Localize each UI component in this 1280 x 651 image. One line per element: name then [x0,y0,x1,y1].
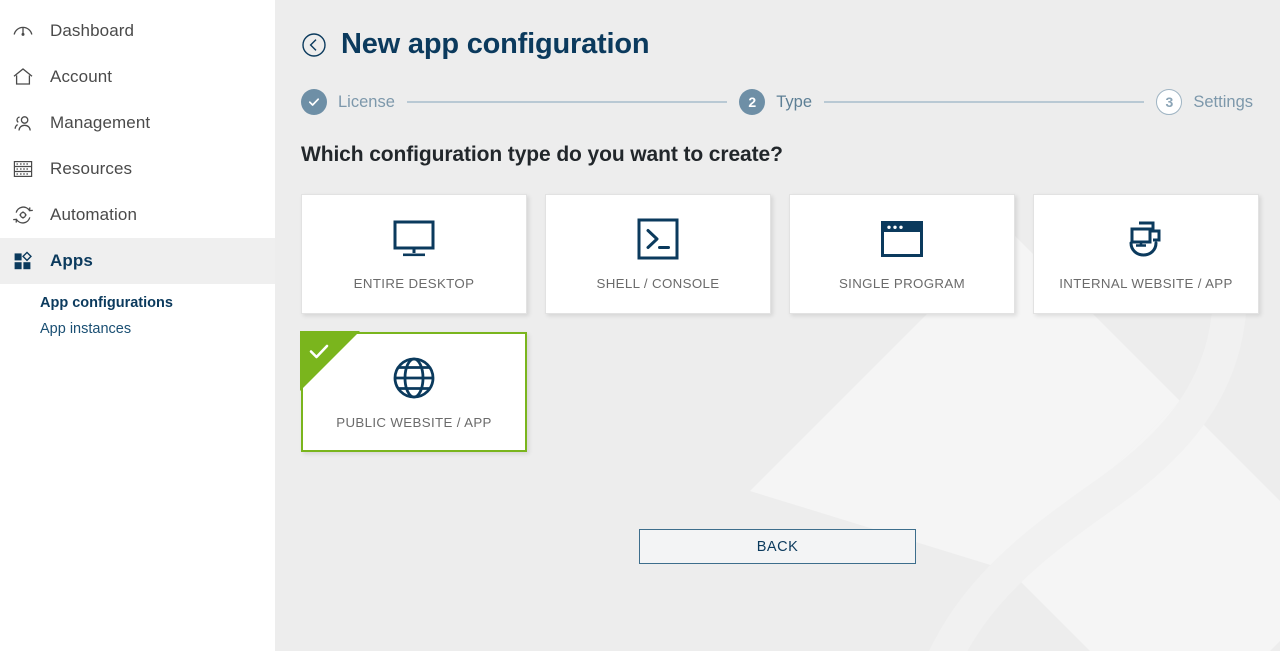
sidebar-item-label: Apps [50,251,93,271]
option-label: SINGLE PROGRAM [839,276,965,291]
content-inner: New app configuration License 2 Type [275,0,1280,452]
page-title: New app configuration [341,30,649,59]
option-card-single-program[interactable]: SINGLE PROGRAM [789,194,1015,314]
option-card-shell-console[interactable]: SHELL / CONSOLE [545,194,771,314]
step-number: 3 [1156,89,1182,115]
sidebar-item-dashboard[interactable]: Dashboard [0,8,275,54]
subnav-item-label: App instances [40,321,131,337]
internal-web-icon [1123,216,1169,262]
step-license[interactable]: License [301,89,395,115]
sidebar-item-app-configurations[interactable]: App configurations [40,290,275,316]
step-label: Settings [1193,93,1253,112]
step-label: Type [776,93,812,112]
footer: BACK [275,521,1280,651]
sidebar-item-account[interactable]: Account [0,54,275,100]
main-content: New app configuration License 2 Type [275,0,1280,651]
wizard-stepper: License 2 Type 3 Settings [301,89,1253,115]
option-label: INTERNAL WEBSITE / APP [1059,276,1232,291]
globe-icon [391,355,437,401]
monitor-icon [391,216,437,262]
server-icon [10,156,36,182]
sidebar-item-label: Resources [50,159,132,179]
apps-icon [10,248,36,274]
window-icon [880,216,924,262]
gear-refresh-icon [10,202,36,228]
step-connector [407,101,727,103]
sidebar-item-app-instances[interactable]: App instances [40,316,275,342]
sidebar: Dashboard Account Management [0,0,275,651]
option-label: PUBLIC WEBSITE / APP [336,415,492,430]
app-root: Dashboard Account Management [0,0,1280,651]
gauge-icon [10,18,36,44]
sidebar-subnav: App configurations App instances [0,284,275,342]
back-button[interactable]: BACK [639,529,916,564]
users-icon [10,110,36,136]
step-connector [824,101,1144,103]
sidebar-item-label: Automation [50,205,137,225]
question-heading: Which configuration type do you want to … [301,143,1256,167]
sidebar-item-automation[interactable]: Automation [0,192,275,238]
option-card-internal-website-app[interactable]: INTERNAL WEBSITE / APP [1033,194,1259,314]
home-icon [10,64,36,90]
sidebar-item-apps[interactable]: Apps [0,238,275,284]
subnav-item-label: App configurations [40,295,173,311]
option-card-entire-desktop[interactable]: ENTIRE DESKTOP [301,194,527,314]
step-number: 2 [739,89,765,115]
sidebar-item-label: Dashboard [50,21,134,41]
config-type-grid: ENTIRE DESKTOP SHELL / CONSOLE [301,194,1279,452]
sidebar-item-resources[interactable]: Resources [0,146,275,192]
sidebar-item-label: Account [50,67,112,87]
sidebar-item-label: Management [50,113,150,133]
option-label: ENTIRE DESKTOP [354,276,475,291]
option-card-public-website-app[interactable]: PUBLIC WEBSITE / APP [301,332,527,452]
check-icon [301,89,327,115]
selected-ribbon [300,331,362,393]
terminal-icon [636,216,680,262]
sidebar-item-management[interactable]: Management [0,100,275,146]
chevron-left-circle-icon[interactable] [301,32,327,58]
step-type[interactable]: 2 Type [739,89,812,115]
step-settings[interactable]: 3 Settings [1156,89,1253,115]
option-label: SHELL / CONSOLE [597,276,720,291]
step-label: License [338,93,395,112]
page-header: New app configuration [301,30,1256,59]
